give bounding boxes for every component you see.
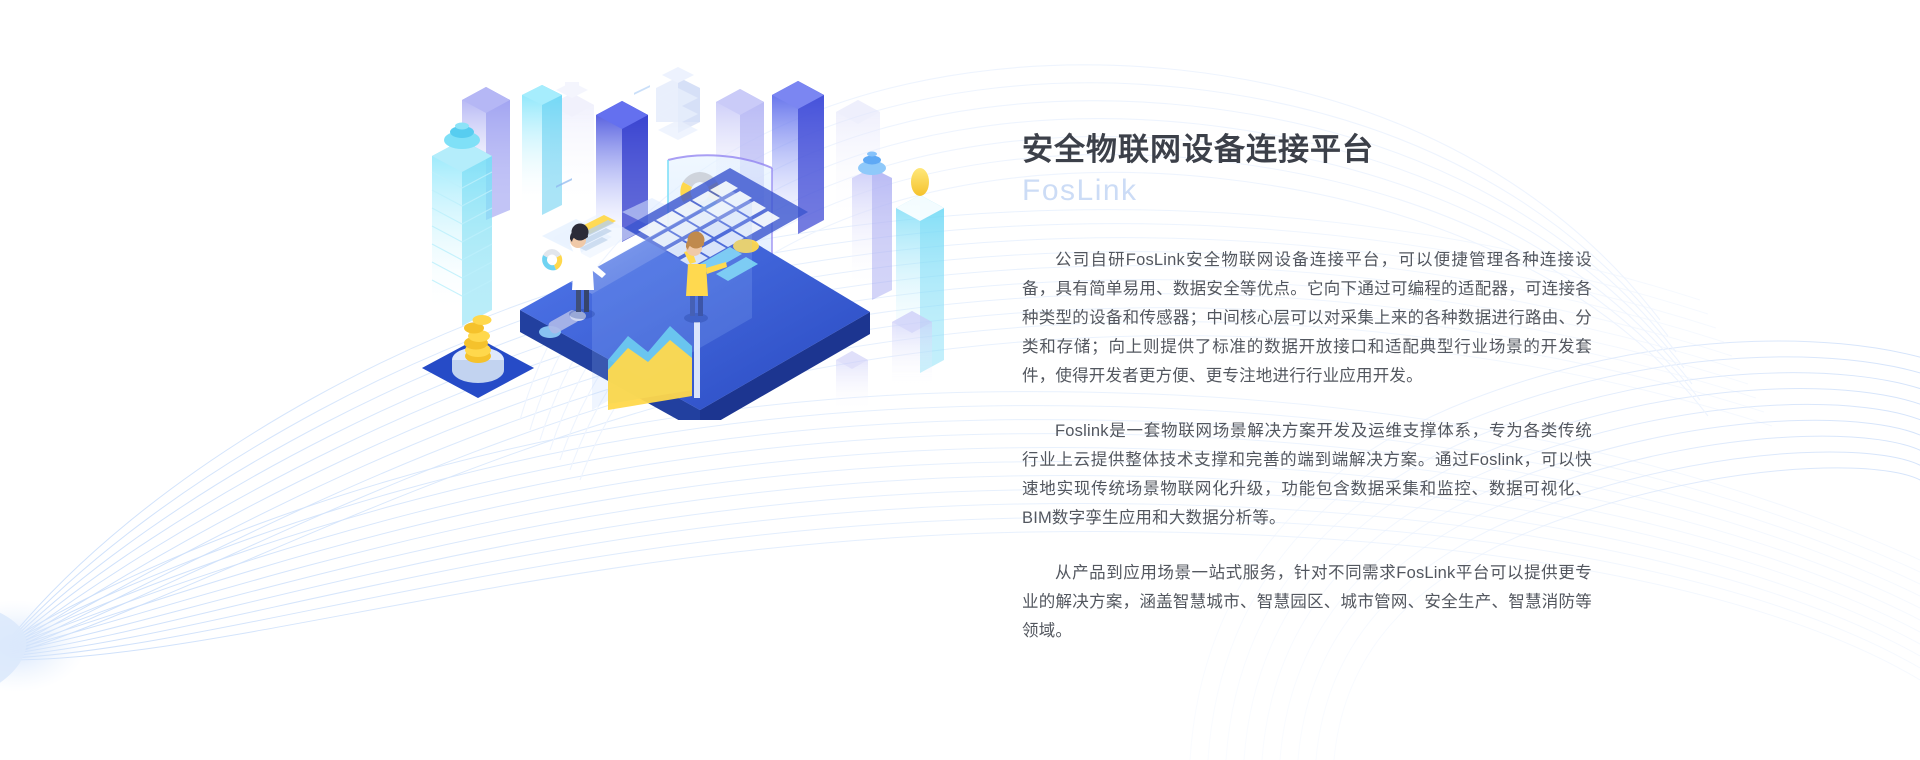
paragraph-1: 公司自研FosLink安全物联网设备连接平台，可以便捷管理各种连接设备，具有简单… (1022, 246, 1592, 391)
hero-section: 安全物联网设备连接平台 FosLink 公司自研FosLink安全物联网设备连接… (0, 0, 1920, 760)
building-small-right-a (892, 311, 932, 390)
building-hex-stepped-cyan (432, 123, 492, 327)
page-title: 安全物联网设备连接平台 (1022, 130, 1592, 170)
donut-chart-small (542, 249, 562, 270)
paragraph-3: 从产品到应用场景一站式服务，针对不同需求FosLink平台可以提供更专业的解决方… (1022, 559, 1592, 646)
product-name-subtitle: FosLink (1022, 172, 1592, 210)
coin-pedestal (422, 315, 534, 398)
building-stepped-round-tall (656, 67, 700, 140)
hero-text-column: 安全物联网设备连接平台 FosLink 公司自研FosLink安全物联网设备连接… (1022, 130, 1592, 646)
description-paragraphs: 公司自研FosLink安全物联网设备连接平台，可以便捷管理各种连接设备，具有简单… (1022, 246, 1592, 646)
building-small-right-b (836, 351, 868, 412)
coin-icon (911, 168, 929, 196)
wave-bundle-lower (10, 392, 1920, 680)
paragraph-2: Foslink是一套物联网场景解决方案开发及运维支撑体系，专为各类传统行业上云提… (1022, 417, 1592, 533)
building-cyan-slim (522, 85, 562, 215)
isometric-smart-city-illustration (400, 60, 980, 420)
wave-node (0, 600, 86, 692)
